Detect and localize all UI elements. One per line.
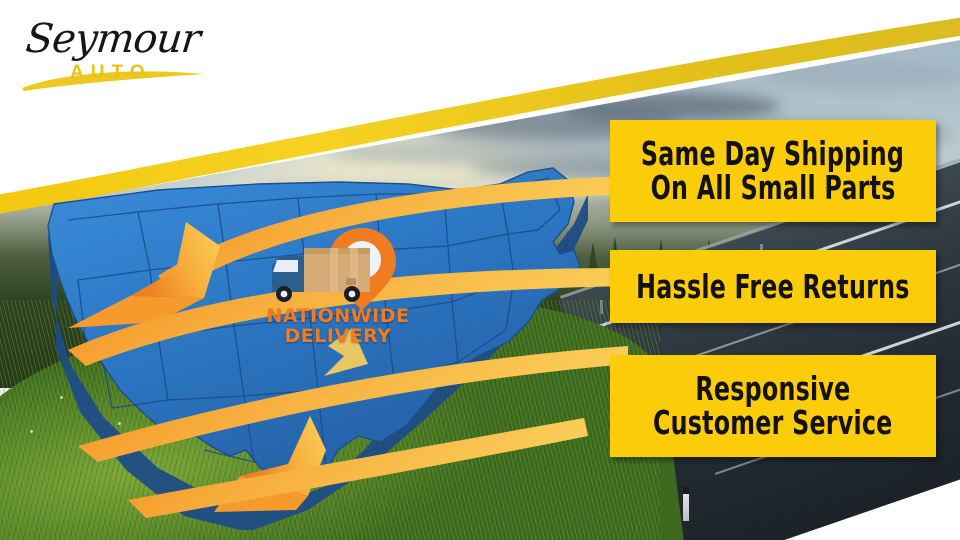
promo-banner: Seymour AUTO [0,0,960,540]
nationwide-line: NATIONWIDE [258,306,418,326]
message-line: Same Day Shipping [641,137,904,171]
delivery-truck-icon [272,248,370,302]
delivery-line: DELIVERY [258,326,418,346]
nationwide-delivery-badge: NATIONWIDE DELIVERY [258,222,418,362]
brand-subname: AUTO [70,62,151,84]
message-line: Hassle Free Returns [636,270,909,304]
message-line: On All Small Parts [651,171,896,205]
message-line: Customer Service [653,406,893,440]
roadside-marker-post [683,487,689,521]
message-box-same-day-shipping[interactable]: Same Day Shipping On All Small Parts [610,120,936,222]
message-box-responsive-customer-service[interactable]: Responsive Customer Service [610,355,936,457]
brand-name: Seymour [24,16,202,62]
message-box-hassle-free-returns[interactable]: Hassle Free Returns [610,250,936,323]
nationwide-delivery-label: NATIONWIDE DELIVERY [258,306,418,346]
message-line: Responsive [695,372,850,406]
brand-logo[interactable]: Seymour AUTO [18,14,208,92]
